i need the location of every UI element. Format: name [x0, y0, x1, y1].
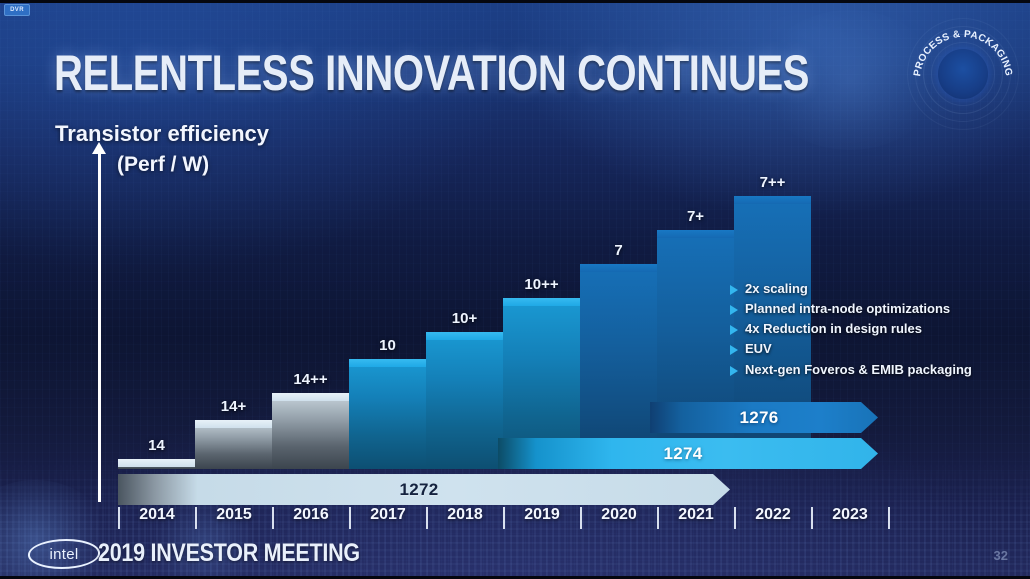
intel-logo: intel: [26, 539, 103, 569]
x-axis-tick: [118, 507, 120, 529]
x-axis-year-2019: 2019: [507, 506, 577, 524]
x-axis-year-2020: 2020: [584, 506, 654, 524]
list-item: EUV: [730, 340, 972, 357]
feature-bullet-list: 2x scaling Planned intra-node optimizati…: [730, 280, 972, 381]
band-1274: 1274: [498, 438, 878, 469]
band-1276-label: 1276: [739, 408, 778, 428]
bar-14: [118, 459, 195, 469]
x-axis-year-2014: 2014: [122, 506, 192, 524]
bar-label-7: 7: [580, 242, 657, 259]
footer-event-title: 2019 INVESTOR MEETING: [98, 539, 360, 568]
bar-cap: [118, 459, 195, 467]
bar-14++: [272, 393, 349, 469]
x-axis-tick: [888, 507, 890, 529]
list-item: Planned intra-node optimizations: [730, 300, 972, 317]
x-axis-tick: [734, 507, 736, 529]
bar-body: [349, 359, 426, 469]
bar-label-10+: 10+: [426, 310, 503, 327]
triangle-bullet-icon: [730, 366, 738, 376]
bullet-label: 4x Reduction in design rules: [745, 320, 922, 337]
x-axis-year-2023: 2023: [815, 506, 885, 524]
x-axis-tick: [195, 507, 197, 529]
bar-cap: [349, 359, 426, 367]
bar-body: [272, 393, 349, 469]
band-1272: 1272: [118, 474, 730, 505]
x-axis-year-2015: 2015: [199, 506, 269, 524]
bullet-label: 2x scaling: [745, 280, 808, 297]
bar-label-14+: 14+: [195, 398, 272, 415]
bar-label-14++: 14++: [272, 371, 349, 388]
list-item: Next-gen Foveros & EMIB packaging: [730, 361, 972, 378]
bar-body: [426, 332, 503, 469]
bar-cap: [272, 393, 349, 401]
x-axis-year-2018: 2018: [430, 506, 500, 524]
x-axis-tick: [657, 507, 659, 529]
x-axis-year-2022: 2022: [738, 506, 808, 524]
intel-logo-text: intel: [30, 541, 98, 567]
bar-label-14: 14: [118, 437, 195, 454]
bar-chart: 1414+14++1010+10++77+7++ 1276 1274 1272 …: [0, 0, 1030, 579]
bullet-label: EUV: [745, 340, 772, 357]
x-axis-year-2017: 2017: [353, 506, 423, 524]
x-axis-tick: [503, 507, 505, 529]
bar-10+: [426, 332, 503, 469]
triangle-bullet-icon: [730, 305, 738, 315]
bar-14+: [195, 420, 272, 469]
bar-label-10: 10: [349, 337, 426, 354]
y-axis-line: [98, 150, 101, 502]
bar-label-7++: 7++: [734, 174, 811, 191]
x-axis-tick: [811, 507, 813, 529]
bar-label-7+: 7+: [657, 208, 734, 225]
x-axis-year-2021: 2021: [661, 506, 731, 524]
slide-canvas: DVR PROCESS & PACKAGING RELENTLESS INNOV…: [0, 0, 1030, 579]
list-item: 4x Reduction in design rules: [730, 320, 972, 337]
x-axis-tick: [272, 507, 274, 529]
bar-cap: [734, 196, 811, 204]
band-1276: 1276: [650, 402, 878, 433]
bullet-label: Next-gen Foveros & EMIB packaging: [745, 361, 972, 378]
x-axis-tick: [349, 507, 351, 529]
band-1272-label: 1272: [399, 480, 438, 500]
bar-cap: [657, 230, 734, 238]
triangle-bullet-icon: [730, 325, 738, 335]
bullet-label: Planned intra-node optimizations: [745, 300, 950, 317]
bar-7+: [657, 230, 734, 469]
slide-number: 32: [994, 548, 1008, 563]
bar-cap: [580, 264, 657, 272]
bar-cap: [195, 420, 272, 428]
bar-cap: [426, 332, 503, 340]
list-item: 2x scaling: [730, 280, 972, 297]
triangle-bullet-icon: [730, 345, 738, 355]
band-1274-label: 1274: [663, 444, 702, 464]
bar-label-10++: 10++: [503, 276, 580, 293]
x-axis-year-2016: 2016: [276, 506, 346, 524]
bar-cap: [503, 298, 580, 306]
x-axis-tick: [426, 507, 428, 529]
x-axis-tick: [580, 507, 582, 529]
footer-bar: intel 2019 INVESTOR MEETING: [0, 531, 1030, 579]
bar-body: [657, 230, 734, 469]
triangle-bullet-icon: [730, 285, 738, 295]
bar-10: [349, 359, 426, 469]
